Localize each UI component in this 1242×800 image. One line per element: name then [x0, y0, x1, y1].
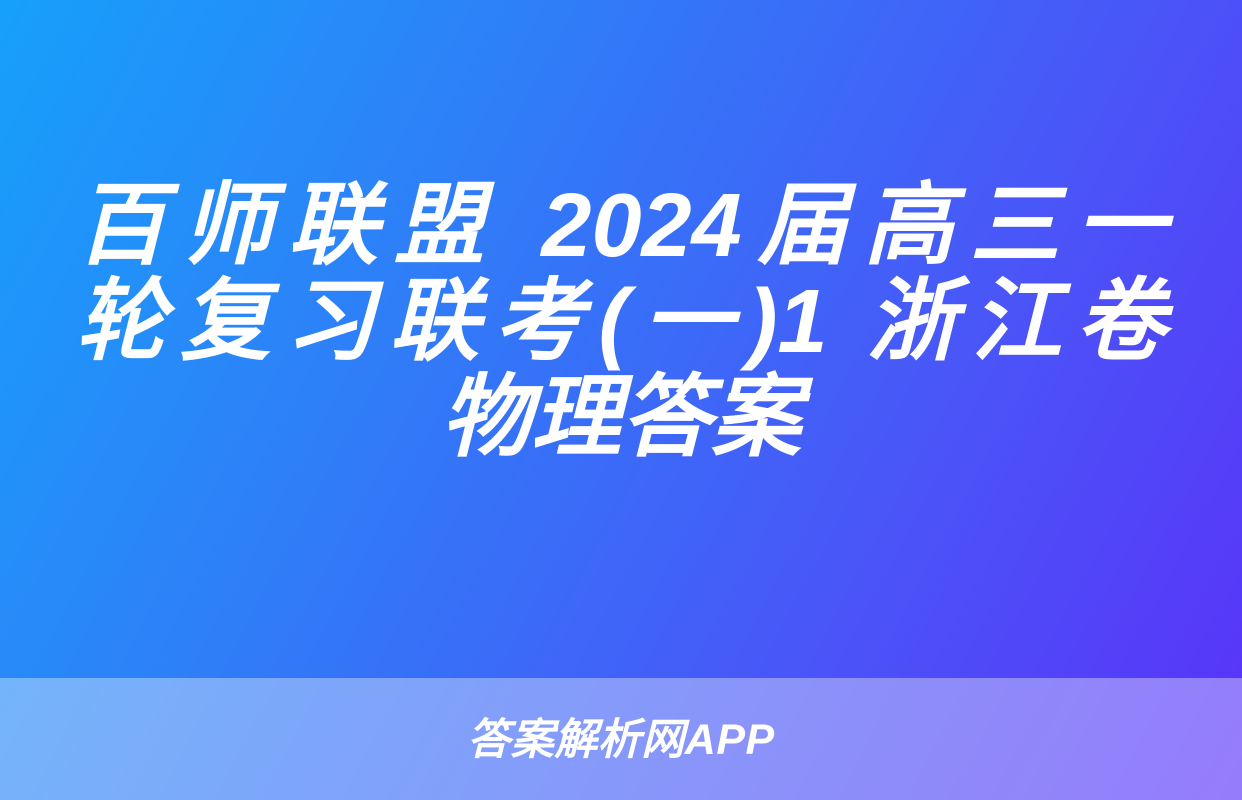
app-name-label: 答案解析网APP — [467, 717, 774, 763]
title-line-2: 轮复习联考(一)1 浙江卷 — [76, 274, 1166, 370]
title-line-3: 物理答案 — [76, 370, 1166, 466]
title-block: 百师联盟 2024届高三一 轮复习联考(一)1 浙江卷 物理答案 — [0, 178, 1242, 466]
title-line-1: 百师联盟 2024届高三一 — [76, 178, 1166, 274]
promo-cover-card: 百师联盟 2024届高三一 轮复习联考(一)1 浙江卷 物理答案 答案解析网AP… — [0, 0, 1242, 800]
footer-band: 答案解析网APP — [0, 678, 1242, 800]
